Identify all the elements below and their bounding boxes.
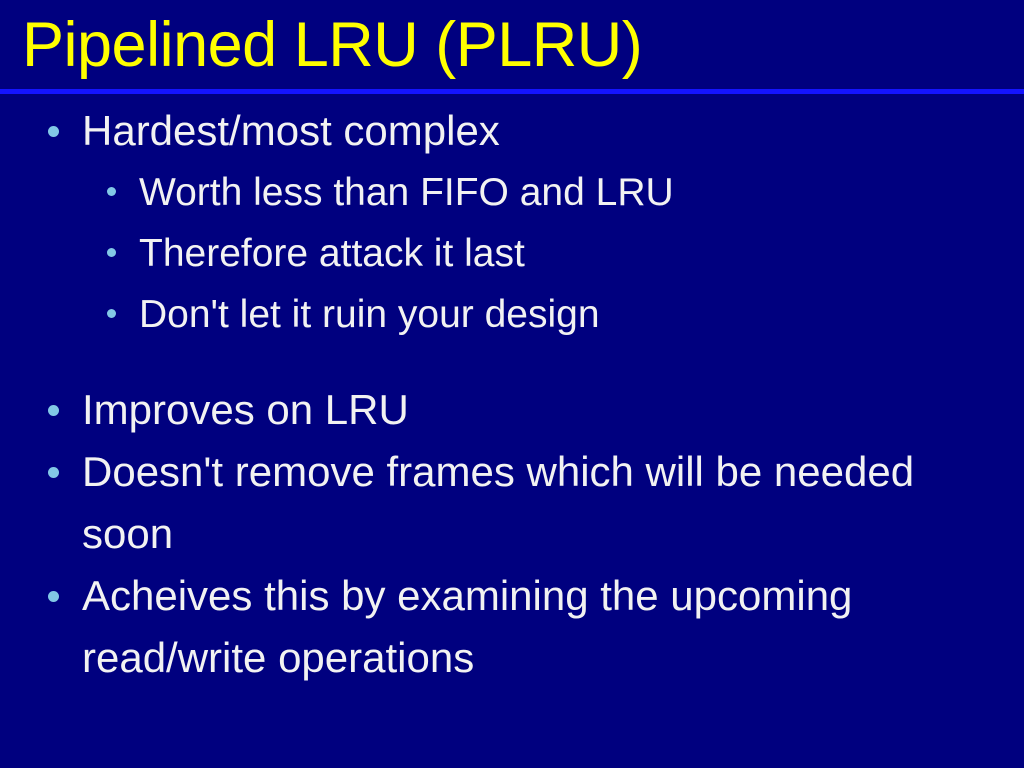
circle-bullet-icon	[48, 405, 59, 416]
bullet-item: Hardest/most complex	[0, 100, 1024, 162]
bullet-text: Therefore attack it last	[139, 223, 928, 284]
bullet-text: Acheives this by examining the upcoming …	[82, 565, 928, 689]
bullet-text: Don't let it ruin your design	[139, 284, 928, 345]
circle-bullet-icon	[107, 187, 116, 196]
circle-bullet-icon	[107, 309, 116, 318]
bullet-text: Improves on LRU	[82, 379, 928, 441]
title-divider	[0, 89, 1024, 94]
title-area: Pipelined LRU (PLRU)	[0, 0, 1024, 90]
circle-bullet-icon	[107, 248, 116, 257]
bullet-text: Hardest/most complex	[82, 100, 928, 162]
bullet-item: Therefore attack it last	[0, 223, 1024, 284]
circle-bullet-icon	[48, 467, 59, 478]
bullet-item: Don't let it ruin your design	[0, 284, 1024, 345]
bullet-item: Doesn't remove frames which will be need…	[0, 441, 1024, 565]
bullet-item: Worth less than FIFO and LRU	[0, 162, 1024, 223]
page-title: Pipelined LRU (PLRU)	[22, 5, 642, 85]
circle-bullet-icon	[48, 591, 59, 602]
circle-bullet-icon	[48, 126, 59, 137]
bullet-text: Worth less than FIFO and LRU	[139, 162, 928, 223]
bullet-item: Improves on LRU	[0, 379, 1024, 441]
bullet-item: Acheives this by examining the upcoming …	[0, 565, 1024, 689]
slide: Pipelined LRU (PLRU) Hardest/most comple…	[0, 0, 1024, 768]
bullet-group-spacer	[0, 345, 1024, 379]
slide-body: Hardest/most complex Worth less than FIF…	[0, 100, 1024, 760]
bullet-text: Doesn't remove frames which will be need…	[82, 441, 928, 565]
